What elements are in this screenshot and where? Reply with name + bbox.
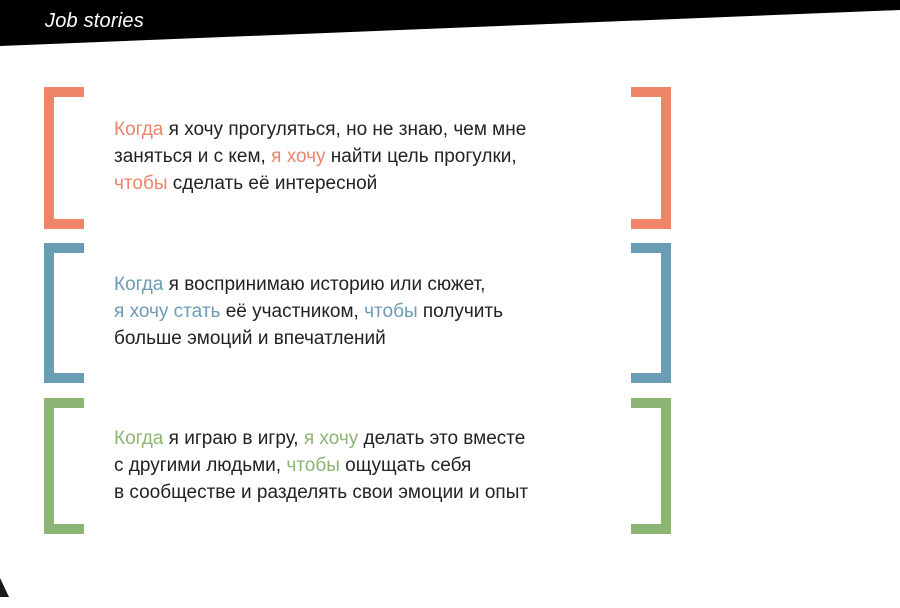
job-story-body: с другими людьми, xyxy=(114,455,286,476)
job-story-keyword: Когда xyxy=(114,428,163,449)
bracket-left-icon xyxy=(44,87,84,229)
job-story-keyword: я хочу стать xyxy=(114,301,220,322)
job-story-body: я играю в игру, xyxy=(163,428,303,449)
job-story-line: больше эмоций и впечатлений xyxy=(114,325,624,352)
job-story-keyword: Когда xyxy=(114,274,163,295)
job-story-keyword: я хочу xyxy=(304,428,358,449)
job-story-line: Когда я играю в игру, я хочу делать это … xyxy=(114,425,624,452)
job-story-keyword: Когда xyxy=(114,119,163,140)
job-story-keyword: чтобы xyxy=(364,301,418,322)
bracket-left-icon xyxy=(44,398,84,534)
job-story-line: Когда я воспринимаю историю или сюжет, xyxy=(114,271,624,298)
job-story-text: Когда я играю в игру, я хочу делать это … xyxy=(114,425,624,506)
page-title: Job stories xyxy=(45,10,144,33)
job-story-body: найти цель прогулки, xyxy=(326,146,517,167)
bracket-right-icon xyxy=(631,87,671,229)
job-story-body: её участником, xyxy=(220,301,364,322)
job-story-text: Когда я воспринимаю историю или сюжет,я … xyxy=(114,271,624,352)
job-story-body: в сообществе и разделять свои эмоции и о… xyxy=(114,482,528,503)
job-story-body: я хочу прогуляться, но не знаю, чем мне xyxy=(163,119,526,140)
bracket-left-icon xyxy=(44,243,84,383)
job-story-body: больше эмоций и впечатлений xyxy=(114,328,386,349)
job-story-line: заняться и с кем, я хочу найти цель прог… xyxy=(114,143,624,170)
job-story-text: Когда я хочу прогуляться, но не знаю, че… xyxy=(114,116,624,197)
job-story-line: с другими людьми, чтобы ощущать себя xyxy=(114,452,624,479)
job-story-line: чтобы сделать её интересной xyxy=(114,170,624,197)
job-story-body: сделать её интересной xyxy=(168,173,378,194)
job-story-line: я хочу стать её участником, чтобы получи… xyxy=(114,298,624,325)
job-story-line: в сообществе и разделять свои эмоции и о… xyxy=(114,479,624,506)
job-story-line: Когда я хочу прогуляться, но не знаю, че… xyxy=(114,116,624,143)
job-story-keyword: чтобы xyxy=(286,455,340,476)
job-story-keyword: я хочу xyxy=(271,146,325,167)
slide-canvas: Job stories Когда я хочу прогуляться, но… xyxy=(0,0,900,608)
job-story-body: я воспринимаю историю или сюжет, xyxy=(163,274,485,295)
job-story-keyword: чтобы xyxy=(114,173,168,194)
job-story-body: получить xyxy=(418,301,503,322)
bracket-right-icon xyxy=(631,398,671,534)
bracket-right-icon xyxy=(631,243,671,383)
job-story-body: делать это вместе xyxy=(358,428,525,449)
job-story-body: заняться и с кем, xyxy=(114,146,271,167)
job-story-body: ощущать себя xyxy=(340,455,471,476)
